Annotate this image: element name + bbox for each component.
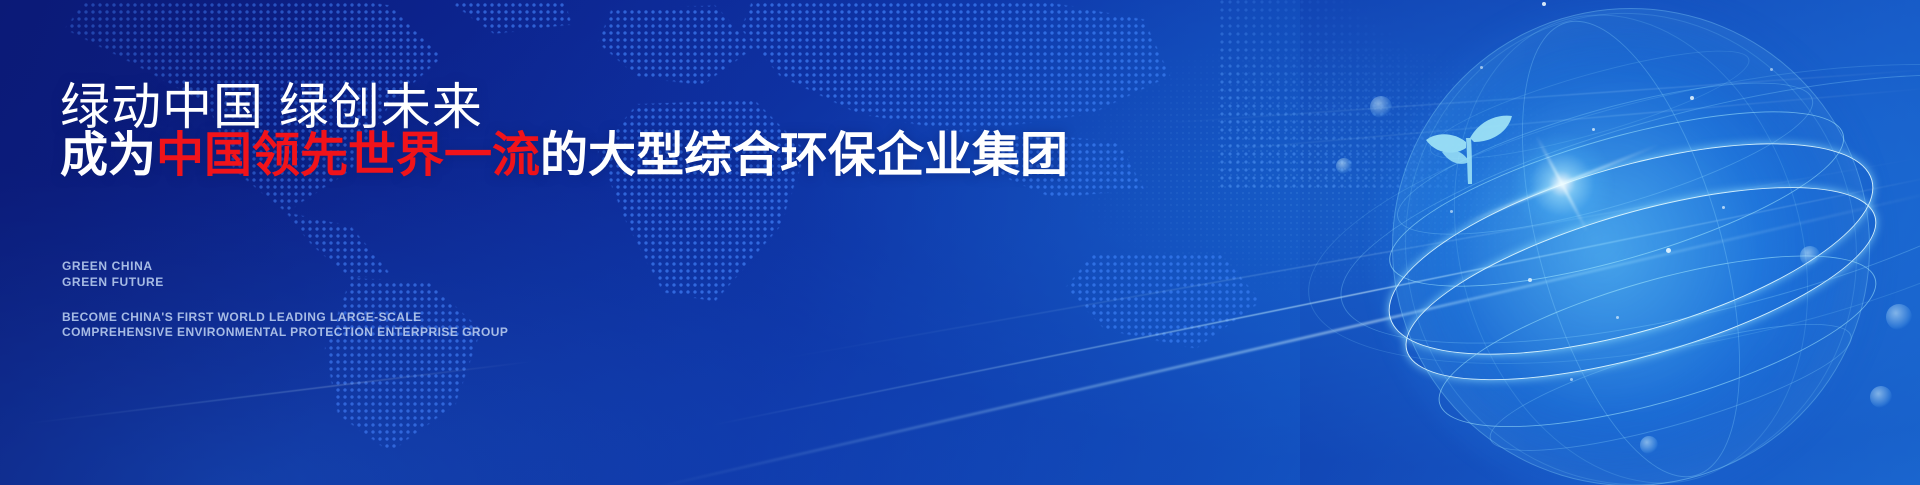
globe-ring-4: [1422, 220, 1892, 462]
globe-ring-3: [1384, 52, 1826, 265]
globe-ring-5: [1480, 299, 1862, 476]
copy-block: 绿动中国 绿创未来 成为中国领先世界一流的大型综合环保企业集团 GREEN CH…: [60, 0, 1120, 485]
tagline-english: BECOME CHINA'S FIRST WORLD LEADING LARGE…: [62, 310, 508, 341]
globe-ring-1: [1373, 75, 1860, 322]
headline-line-2: 成为中国领先世界一流的大型综合环保企业集团: [60, 130, 1068, 182]
tagline-english-line-1: BECOME CHINA'S FIRST WORLD LEADING LARGE…: [62, 310, 508, 325]
dot-corner-texture: [1220, 0, 1450, 190]
slogan-english-line-1: GREEN CHINA: [62, 259, 164, 275]
wireframe-globe: [1330, 0, 1920, 485]
globe-meridian-1: [1478, 0, 1783, 485]
headline-line-1: 绿动中国 绿创未来: [60, 80, 483, 134]
globe-sphere: [1392, 8, 1870, 485]
headline-line-2-suffix: 的大型综合环保企业集团: [540, 129, 1068, 182]
globe-outer-orbit-2: [1283, 5, 1920, 422]
headline-line-2-highlight: 中国领先世界一流: [156, 129, 540, 182]
slogan-english: GREEN CHINA GREEN FUTURE: [62, 259, 164, 291]
globe-meridian-2: [1401, 0, 1862, 485]
slogan-english-line-2: GREEN FUTURE: [62, 275, 164, 291]
globe-ring-6: [1422, 30, 1758, 179]
globe-meridian-3: [1349, 0, 1912, 485]
globe-ring-2: [1387, 147, 1896, 420]
tagline-english-line-2: COMPREHENSIVE ENVIRONMENTAL PROTECTION E…: [62, 325, 508, 340]
hero-banner: 绿动中国 绿创未来 成为中国领先世界一流的大型综合环保企业集团 GREEN CH…: [0, 0, 1920, 485]
hex-texture: [1050, 0, 1650, 300]
headline-line-2-prefix: 成为: [60, 129, 156, 182]
globe-glow: [1370, 0, 1890, 485]
light-burst: [1502, 124, 1622, 244]
globe-outer-orbit-1: [1317, 19, 1920, 399]
globe-ring-equator: [1367, 100, 1895, 398]
sprout-leaf-icon: [1422, 98, 1514, 184]
